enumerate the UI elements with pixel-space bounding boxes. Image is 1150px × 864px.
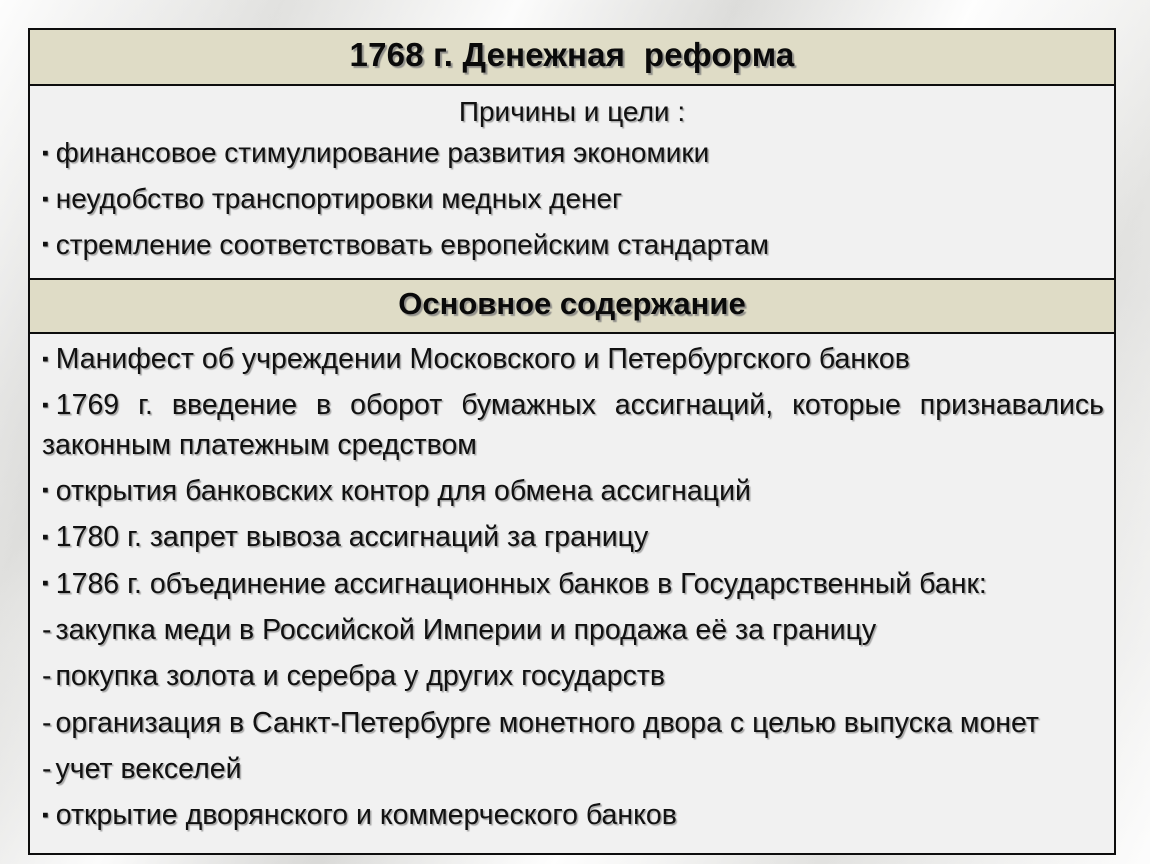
square-bullet-icon: ▪ bbox=[42, 481, 49, 500]
list-item-text: открытия банковских контор для обмена ас… bbox=[56, 475, 751, 507]
square-bullet-icon: ▪ bbox=[42, 144, 49, 163]
dash-marker-icon: - bbox=[42, 750, 52, 789]
reform-summary-table: 1768 г. Денежная реформа Причины и цели … bbox=[28, 28, 1116, 855]
slide: 1768 г. Денежная реформа Причины и цели … bbox=[0, 0, 1150, 864]
square-bullet-icon: ▪ bbox=[42, 396, 49, 415]
square-bullet-icon: ▪ bbox=[42, 806, 49, 825]
table-title-row: 1768 г. Денежная реформа bbox=[30, 30, 1114, 86]
list-item-text: стремление соответствовать европейским с… bbox=[56, 229, 769, 260]
list-item-text: закупка меди в Российской Империи и прод… bbox=[56, 614, 877, 646]
list-item: ▪стремление соответствовать европейским … bbox=[40, 226, 1104, 265]
causes-and-goals-row: Причины и цели : ▪финансовое стимулирова… bbox=[30, 86, 1114, 280]
dash-marker-icon: - bbox=[42, 704, 52, 743]
list-item-text: 1780 г. запрет вывоза ассигнаций за гран… bbox=[56, 521, 648, 553]
list-item: -учет векселей bbox=[40, 750, 1104, 789]
list-item-text: 1769 г. введение в оборот бумажных ассиг… bbox=[42, 389, 1104, 460]
list-item-text: организация в Санкт-Петербурге монетного… bbox=[56, 707, 1040, 739]
list-item: ▪1780 г. запрет вывоза ассигнаций за гра… bbox=[40, 518, 1104, 557]
list-item: ▪финансовое стимулирование развития экон… bbox=[40, 134, 1104, 173]
square-bullet-icon: ▪ bbox=[42, 350, 49, 369]
page-title: 1768 г. Денежная реформа bbox=[350, 36, 795, 73]
list-item-text: неудобство транспортировки медных денег bbox=[56, 183, 623, 214]
main-content-row: ▪Манифест об учреждении Московского и Пе… bbox=[30, 334, 1114, 853]
list-item: -покупка золота и серебра у других госуд… bbox=[40, 657, 1104, 696]
list-item: ▪Манифест об учреждении Московского и Пе… bbox=[40, 340, 1104, 379]
list-item-text: Манифест об учреждении Московского и Пет… bbox=[56, 343, 910, 375]
list-item-text: покупка золота и серебра у других госуда… bbox=[56, 660, 666, 692]
list-item: ▪открытие дворянского и коммерческого ба… bbox=[40, 796, 1104, 835]
causes-lead-label: Причины и цели : bbox=[40, 93, 1104, 131]
content-section-heading-row: Основное содержание bbox=[30, 280, 1114, 334]
list-item-text: 1786 г. объединение ассигнационных банко… bbox=[56, 568, 987, 600]
list-item: ▪1786 г. объединение ассигнационных банк… bbox=[40, 565, 1104, 604]
list-item: ▪неудобство транспортировки медных денег bbox=[40, 180, 1104, 219]
dash-marker-icon: - bbox=[42, 611, 52, 650]
square-bullet-icon: ▪ bbox=[42, 574, 49, 593]
square-bullet-icon: ▪ bbox=[42, 528, 49, 547]
square-bullet-icon: ▪ bbox=[42, 235, 49, 254]
list-item: -организация в Санкт-Петербурге монетног… bbox=[40, 704, 1104, 743]
dash-marker-icon: - bbox=[42, 657, 52, 696]
list-item: ▪открытия банковских контор для обмена а… bbox=[40, 472, 1104, 511]
list-item-text: открытие дворянского и коммерческого бан… bbox=[56, 799, 677, 831]
square-bullet-icon: ▪ bbox=[42, 190, 49, 209]
list-item-text: финансовое стимулирование развития эконо… bbox=[56, 137, 710, 168]
list-item: ▪1769 г. введение в оборот бумажных асси… bbox=[40, 386, 1104, 465]
section-heading: Основное содержание bbox=[398, 286, 745, 321]
list-item-text: учет векселей bbox=[56, 753, 242, 785]
list-item: -закупка меди в Российской Империи и про… bbox=[40, 611, 1104, 650]
